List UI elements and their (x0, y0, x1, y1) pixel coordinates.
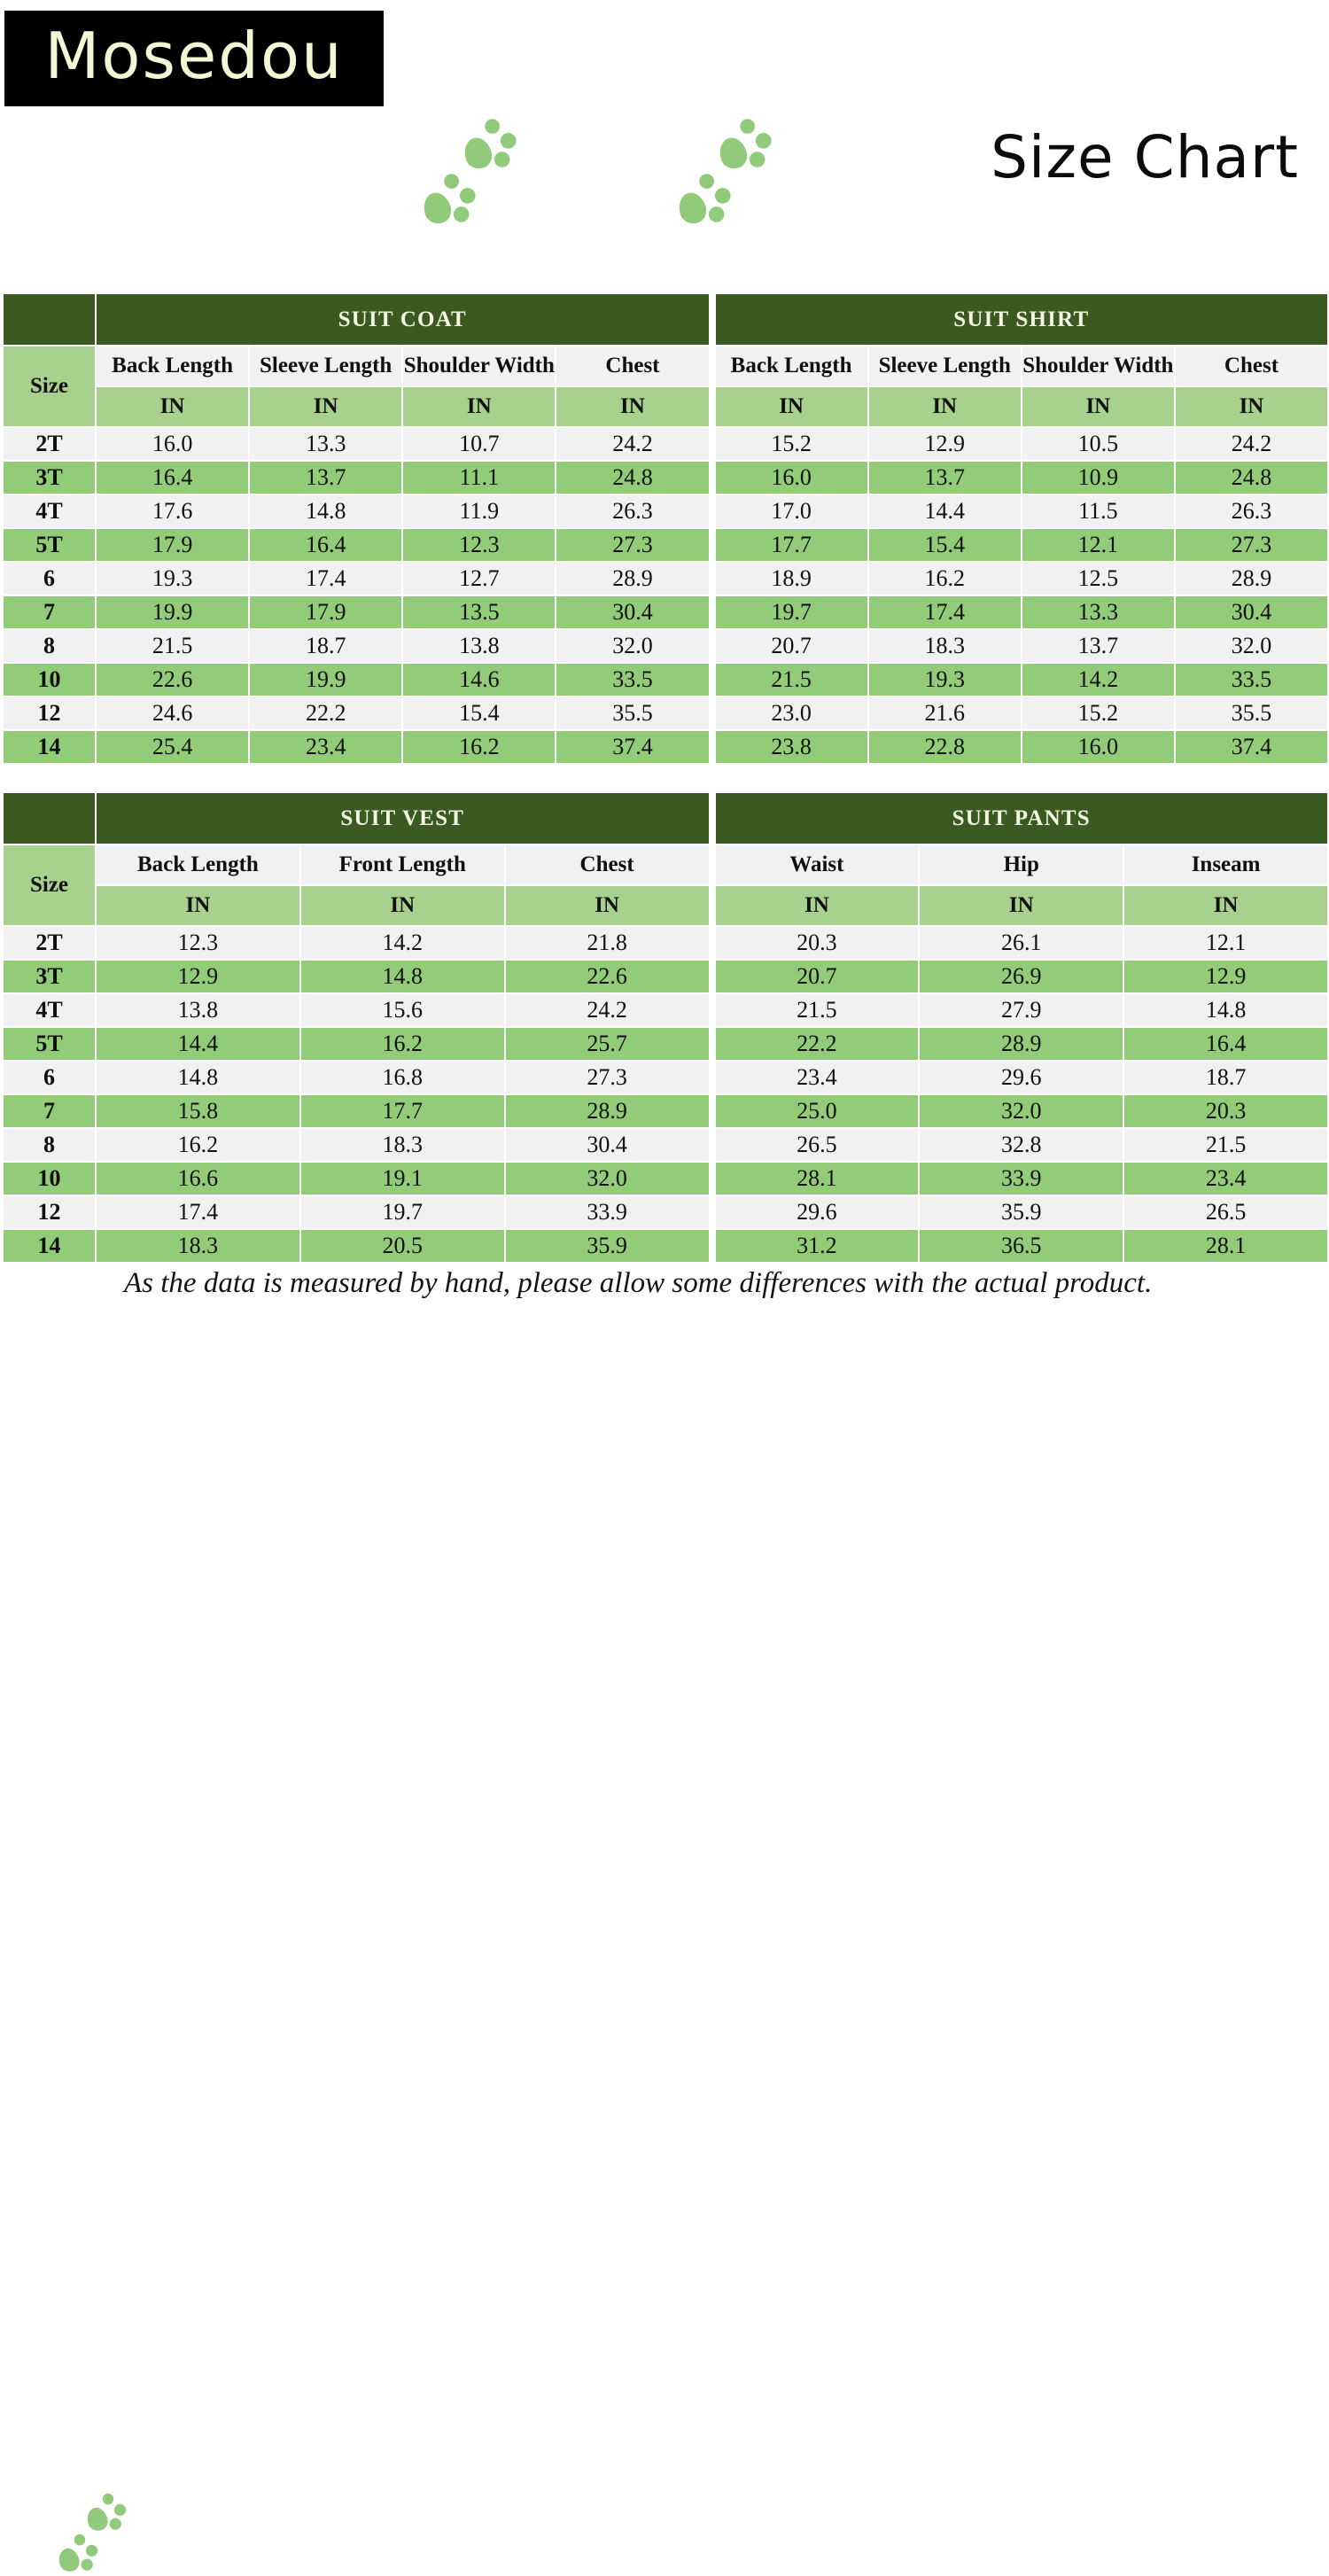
cell-measurement: 19.3 (96, 562, 249, 595)
cell-measurement: 21.5 (96, 629, 249, 663)
cell-measurement: 12.5 (1022, 562, 1175, 595)
cell-measurement: 12.7 (402, 562, 556, 595)
cell-measurement: 13.5 (402, 595, 556, 629)
column-header-waist: Waist (715, 844, 920, 885)
cell-measurement: 17.7 (715, 528, 868, 562)
cell-measurement: 22.8 (868, 730, 1022, 764)
cell-size: 8 (3, 1128, 96, 1162)
cell-size: 4T (3, 494, 96, 528)
column-header-hip: Hip (919, 844, 1123, 885)
cell-measurement: 18.3 (868, 629, 1022, 663)
cell-measurement: 11.9 (402, 494, 556, 528)
cell-measurement: 16.0 (715, 461, 868, 494)
cell-measurement: 26.3 (556, 494, 709, 528)
cell-size: 5T (3, 528, 96, 562)
cell-measurement: 19.1 (300, 1162, 505, 1195)
cell-measurement: 30.4 (556, 595, 709, 629)
table-row: 821.518.713.832.020.718.313.732.0 (3, 629, 1328, 663)
cell-measurement: 27.3 (505, 1061, 710, 1094)
paw-print-icon (679, 172, 736, 230)
table-row: 1022.619.914.633.521.519.314.233.5 (3, 663, 1328, 697)
cell-measurement: 15.8 (96, 1094, 300, 1128)
cell-measurement: 17.0 (715, 494, 868, 528)
cell-measurement: 18.9 (715, 562, 868, 595)
cell-measurement: 12.3 (402, 528, 556, 562)
cell-measurement: 27.3 (1175, 528, 1328, 562)
cell-measurement: 16.8 (300, 1061, 505, 1094)
section-title-suit-coat: SUIT COAT (96, 293, 710, 346)
cell-measurement: 20.7 (715, 960, 920, 993)
cell-measurement: 23.4 (1123, 1162, 1328, 1195)
column-header-chest: Chest (556, 346, 709, 386)
column-header-row: SizeBack LengthFront LengthChestWaistHip… (3, 844, 1328, 885)
table-row: 1224.622.215.435.523.021.615.235.5 (3, 697, 1328, 730)
cell-measurement: 14.4 (868, 494, 1022, 528)
cell-size: 8 (3, 629, 96, 663)
cell-measurement: 29.6 (715, 1195, 920, 1229)
cell-measurement: 14.8 (249, 494, 402, 528)
cell-measurement: 30.4 (1175, 595, 1328, 629)
cell-measurement: 13.8 (402, 629, 556, 663)
table-row: 3T12.914.822.620.726.912.9 (3, 960, 1328, 993)
paw-print-icon (719, 117, 777, 175)
brand-name: Mosedou (44, 24, 343, 93)
cell-measurement: 16.2 (96, 1128, 300, 1162)
cell-measurement: 22.2 (249, 697, 402, 730)
cell-measurement: 16.2 (402, 730, 556, 764)
cell-measurement: 23.0 (715, 697, 868, 730)
cell-measurement: 18.7 (1123, 1061, 1328, 1094)
cell-measurement: 15.2 (715, 427, 868, 461)
band-corner (3, 792, 96, 844)
cell-measurement: 14.2 (300, 926, 505, 960)
cell-measurement: 25.4 (96, 730, 249, 764)
column-header-sleeve-length: Sleeve Length (249, 346, 402, 386)
cell-measurement: 32.0 (556, 629, 709, 663)
unit-cell: IN (715, 885, 920, 926)
cell-measurement: 37.4 (1175, 730, 1328, 764)
cell-measurement: 37.4 (556, 730, 709, 764)
section-title-suit-pants: SUIT PANTS (715, 792, 1329, 844)
brand-logo: Mosedou (4, 11, 384, 106)
table-row: 5T14.416.225.722.228.916.4 (3, 1027, 1328, 1061)
cell-measurement: 10.7 (402, 427, 556, 461)
cell-measurement: 21.5 (1123, 1128, 1328, 1162)
column-header-sleeve-length: Sleeve Length (868, 346, 1022, 386)
cell-measurement: 29.6 (919, 1061, 1123, 1094)
column-header-front-length: Front Length (300, 844, 505, 885)
table-row: 816.218.330.426.532.821.5 (3, 1128, 1328, 1162)
cell-measurement: 13.8 (96, 993, 300, 1027)
cell-size: 2T (3, 427, 96, 461)
cell-measurement: 28.9 (919, 1027, 1123, 1061)
table-row: 2T16.013.310.724.215.212.910.524.2 (3, 427, 1328, 461)
cell-measurement: 21.5 (715, 993, 920, 1027)
section-band-row: SUIT COATSUIT SHIRT (3, 293, 1328, 346)
cell-measurement: 21.6 (868, 697, 1022, 730)
cell-measurement: 15.4 (868, 528, 1022, 562)
cell-size: 12 (3, 697, 96, 730)
size-table-coat-shirt: SUIT COATSUIT SHIRTSizeBack LengthSleeve… (2, 292, 1329, 765)
cell-measurement: 14.8 (96, 1061, 300, 1094)
cell-measurement: 22.2 (715, 1027, 920, 1061)
section-title-suit-vest: SUIT VEST (96, 792, 710, 844)
column-header-back-length: Back Length (715, 346, 868, 386)
cell-measurement: 28.9 (556, 562, 709, 595)
table-row: 2T12.314.221.820.326.112.1 (3, 926, 1328, 960)
paw-print-icon (464, 117, 522, 175)
unit-cell: IN (249, 386, 402, 427)
cell-measurement: 10.9 (1022, 461, 1175, 494)
section-title-suit-shirt: SUIT SHIRT (715, 293, 1329, 346)
cell-measurement: 17.4 (249, 562, 402, 595)
cell-measurement: 19.7 (300, 1195, 505, 1229)
cell-measurement: 32.0 (1175, 629, 1328, 663)
cell-measurement: 24.2 (1175, 427, 1328, 461)
cell-measurement: 28.9 (1175, 562, 1328, 595)
table-row: 4T17.614.811.926.317.014.411.526.3 (3, 494, 1328, 528)
cell-measurement: 19.3 (868, 663, 1022, 697)
cell-measurement: 17.9 (96, 528, 249, 562)
cell-size: 5T (3, 1027, 96, 1061)
cell-measurement: 33.9 (919, 1162, 1123, 1195)
cell-measurement: 16.4 (96, 461, 249, 494)
cell-measurement: 26.9 (919, 960, 1123, 993)
cell-measurement: 16.6 (96, 1162, 300, 1195)
cell-measurement: 26.3 (1175, 494, 1328, 528)
cell-measurement: 24.2 (556, 427, 709, 461)
cell-measurement: 11.1 (402, 461, 556, 494)
table-row: 719.917.913.530.419.717.413.330.4 (3, 595, 1328, 629)
footer: As the data is measured by hand, please … (0, 1248, 1329, 1319)
cell-measurement: 22.6 (96, 663, 249, 697)
cell-size: 6 (3, 1061, 96, 1094)
cell-measurement: 20.3 (1123, 1094, 1328, 1128)
cell-measurement: 17.4 (96, 1195, 300, 1229)
unit-cell: IN (96, 885, 300, 926)
cell-measurement: 13.7 (249, 461, 402, 494)
cell-measurement: 24.2 (505, 993, 710, 1027)
cell-measurement: 19.9 (249, 663, 402, 697)
cell-measurement: 14.2 (1022, 663, 1175, 697)
paw-print-icon (59, 2533, 103, 2576)
column-header-inseam: Inseam (1123, 844, 1328, 885)
table-row: 1016.619.132.028.133.923.4 (3, 1162, 1328, 1195)
cell-measurement: 21.8 (505, 926, 710, 960)
table-body: SUIT COATSUIT SHIRTSizeBack LengthSleeve… (3, 293, 1328, 764)
cell-measurement: 23.8 (715, 730, 868, 764)
cell-size: 12 (3, 1195, 96, 1229)
unit-row: ININININININ (3, 885, 1328, 926)
table-row: 3T16.413.711.124.816.013.710.924.8 (3, 461, 1328, 494)
table-row: 715.817.728.925.032.020.3 (3, 1094, 1328, 1128)
table-gap (0, 765, 1329, 791)
cell-measurement: 27.9 (919, 993, 1123, 1027)
cell-measurement: 20.3 (715, 926, 920, 960)
column-header-size: Size (3, 844, 96, 926)
cell-measurement: 16.2 (868, 562, 1022, 595)
cell-measurement: 28.9 (505, 1094, 710, 1128)
cell-measurement: 24.8 (1175, 461, 1328, 494)
cell-measurement: 12.9 (868, 427, 1022, 461)
cell-measurement: 12.9 (1123, 960, 1328, 993)
cell-measurement: 22.6 (505, 960, 710, 993)
page-header: Mosedou Size Chart (0, 0, 1329, 292)
table-row: 4T13.815.624.221.527.914.8 (3, 993, 1328, 1027)
cell-measurement: 23.4 (715, 1061, 920, 1094)
cell-size: 3T (3, 960, 96, 993)
cell-measurement: 17.7 (300, 1094, 505, 1128)
cell-measurement: 14.4 (96, 1027, 300, 1061)
cell-measurement: 16.0 (96, 427, 249, 461)
cell-measurement: 12.9 (96, 960, 300, 993)
cell-size: 14 (3, 730, 96, 764)
cell-measurement: 26.5 (1123, 1195, 1328, 1229)
cell-measurement: 35.9 (919, 1195, 1123, 1229)
unit-cell: IN (1022, 386, 1175, 427)
cell-measurement: 28.1 (715, 1162, 920, 1195)
cell-measurement: 18.3 (300, 1128, 505, 1162)
cell-size: 4T (3, 993, 96, 1027)
unit-cell: IN (1175, 386, 1328, 427)
cell-measurement: 33.5 (1175, 663, 1328, 697)
cell-measurement: 13.3 (249, 427, 402, 461)
column-header-row: SizeBack LengthSleeve LengthShoulder Wid… (3, 346, 1328, 386)
band-corner (3, 293, 96, 346)
cell-measurement: 17.4 (868, 595, 1022, 629)
section-band-row: SUIT VESTSUIT PANTS (3, 792, 1328, 844)
size-table-block-1: SUIT COATSUIT SHIRTSizeBack LengthSleeve… (0, 292, 1329, 765)
paw-print-icon (88, 2493, 131, 2536)
cell-measurement: 19.7 (715, 595, 868, 629)
cell-measurement: 13.3 (1022, 595, 1175, 629)
cell-measurement: 26.1 (919, 926, 1123, 960)
cell-measurement: 35.5 (556, 697, 709, 730)
cell-measurement: 16.0 (1022, 730, 1175, 764)
unit-cell: IN (300, 885, 505, 926)
cell-measurement: 19.9 (96, 595, 249, 629)
size-table-vest-pants: SUIT VESTSUIT PANTSSizeBack LengthFront … (2, 791, 1329, 1264)
cell-measurement: 15.6 (300, 993, 505, 1027)
table-row: 619.317.412.728.918.916.212.528.9 (3, 562, 1328, 595)
cell-measurement: 26.5 (715, 1128, 920, 1162)
cell-measurement: 14.6 (402, 663, 556, 697)
column-header-back-length: Back Length (96, 346, 249, 386)
cell-size: 10 (3, 1162, 96, 1195)
cell-measurement: 14.8 (1123, 993, 1328, 1027)
cell-measurement: 12.3 (96, 926, 300, 960)
cell-measurement: 15.4 (402, 697, 556, 730)
cell-size: 10 (3, 663, 96, 697)
unit-cell: IN (556, 386, 709, 427)
cell-measurement: 13.7 (1022, 629, 1175, 663)
cell-measurement: 33.9 (505, 1195, 710, 1229)
cell-measurement: 16.2 (300, 1027, 505, 1061)
cell-measurement: 16.4 (1123, 1027, 1328, 1061)
cell-measurement: 23.4 (249, 730, 402, 764)
unit-cell: IN (715, 386, 868, 427)
page-title: Size Chart (991, 128, 1299, 187)
cell-size: 7 (3, 1094, 96, 1128)
cell-measurement: 27.3 (556, 528, 709, 562)
cell-size: 2T (3, 926, 96, 960)
column-header-shoulder-width: Shoulder Width (402, 346, 556, 386)
cell-measurement: 13.7 (868, 461, 1022, 494)
column-header-back-length: Back Length (96, 844, 300, 885)
column-header-size: Size (3, 346, 96, 427)
column-header-chest: Chest (505, 844, 710, 885)
size-table-block-2: SUIT VESTSUIT PANTSSizeBack LengthFront … (0, 791, 1329, 1264)
cell-measurement: 24.6 (96, 697, 249, 730)
column-header-shoulder-width: Shoulder Width (1022, 346, 1175, 386)
cell-measurement: 20.7 (715, 629, 868, 663)
cell-measurement: 25.0 (715, 1094, 920, 1128)
unit-row: ININININININININ (3, 386, 1328, 427)
cell-measurement: 14.8 (300, 960, 505, 993)
table-row: 1217.419.733.929.635.926.5 (3, 1195, 1328, 1229)
cell-measurement: 35.5 (1175, 697, 1328, 730)
cell-size: 3T (3, 461, 96, 494)
cell-measurement: 32.0 (505, 1162, 710, 1195)
cell-measurement: 21.5 (715, 663, 868, 697)
table-row: 1425.423.416.237.423.822.816.037.4 (3, 730, 1328, 764)
table-row: 614.816.827.323.429.618.7 (3, 1061, 1328, 1094)
cell-measurement: 18.7 (249, 629, 402, 663)
cell-measurement: 17.9 (249, 595, 402, 629)
cell-measurement: 30.4 (505, 1128, 710, 1162)
unit-cell: IN (505, 885, 710, 926)
cell-measurement: 32.8 (919, 1128, 1123, 1162)
unit-cell: IN (868, 386, 1022, 427)
unit-cell: IN (919, 885, 1123, 926)
measurement-disclaimer: As the data is measured by hand, please … (124, 1267, 1152, 1300)
cell-measurement: 25.7 (505, 1027, 710, 1061)
unit-cell: IN (1123, 885, 1328, 926)
unit-cell: IN (402, 386, 556, 427)
column-header-chest: Chest (1175, 346, 1328, 386)
cell-size: 6 (3, 562, 96, 595)
cell-measurement: 12.1 (1022, 528, 1175, 562)
cell-size: 7 (3, 595, 96, 629)
cell-measurement: 33.5 (556, 663, 709, 697)
cell-measurement: 12.1 (1123, 926, 1328, 960)
cell-measurement: 16.4 (249, 528, 402, 562)
table-body: SUIT VESTSUIT PANTSSizeBack LengthFront … (3, 792, 1328, 1263)
cell-measurement: 11.5 (1022, 494, 1175, 528)
unit-cell: IN (96, 386, 249, 427)
cell-measurement: 24.8 (556, 461, 709, 494)
cell-measurement: 32.0 (919, 1094, 1123, 1128)
cell-measurement: 15.2 (1022, 697, 1175, 730)
cell-measurement: 10.5 (1022, 427, 1175, 461)
paw-print-icon (424, 172, 481, 230)
table-row: 5T17.916.412.327.317.715.412.127.3 (3, 528, 1328, 562)
cell-measurement: 17.6 (96, 494, 249, 528)
